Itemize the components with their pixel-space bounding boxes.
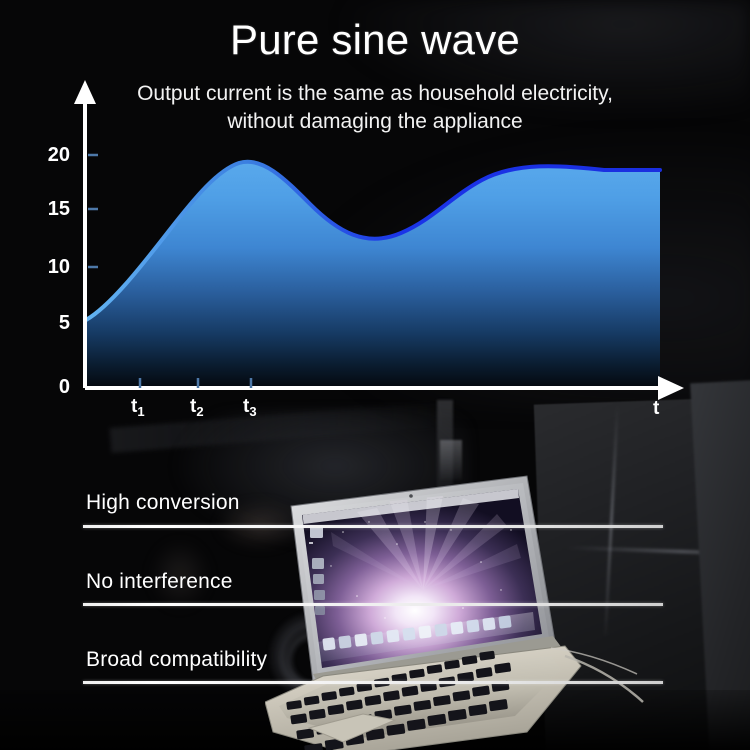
x-tick-label-t1: t1: [131, 396, 145, 419]
feature-label-broad-compatibility: Broad compatibility: [86, 648, 267, 672]
laptop-camera-icon: [409, 494, 413, 498]
arrow-right-icon: [658, 376, 684, 400]
wave-area: [86, 162, 660, 388]
laptop-photo: [265, 470, 705, 750]
y-tick-label-5: 5: [30, 312, 70, 335]
feature-label-high-conversion: High conversion: [86, 491, 240, 515]
sine-wave-chart: [0, 0, 750, 440]
y-tick-label-15: 15: [30, 198, 70, 221]
x-axis-label: t: [653, 398, 659, 420]
promo-image: Pure sine wave Output current is the sam…: [0, 0, 750, 750]
feature-rule-1: [83, 525, 663, 528]
x-tick-label-t3: t3: [243, 396, 257, 419]
feature-rule-3: [83, 681, 663, 684]
x-tick-label-t2: t2: [190, 396, 204, 419]
feature-label-no-interference: No interference: [86, 570, 233, 594]
arrow-up-icon: [74, 80, 96, 104]
y-tick-label-0: 0: [30, 376, 70, 399]
feature-rule-2: [83, 603, 663, 606]
y-tick-label-20: 20: [30, 144, 70, 167]
y-tick-label-10: 10: [30, 256, 70, 279]
